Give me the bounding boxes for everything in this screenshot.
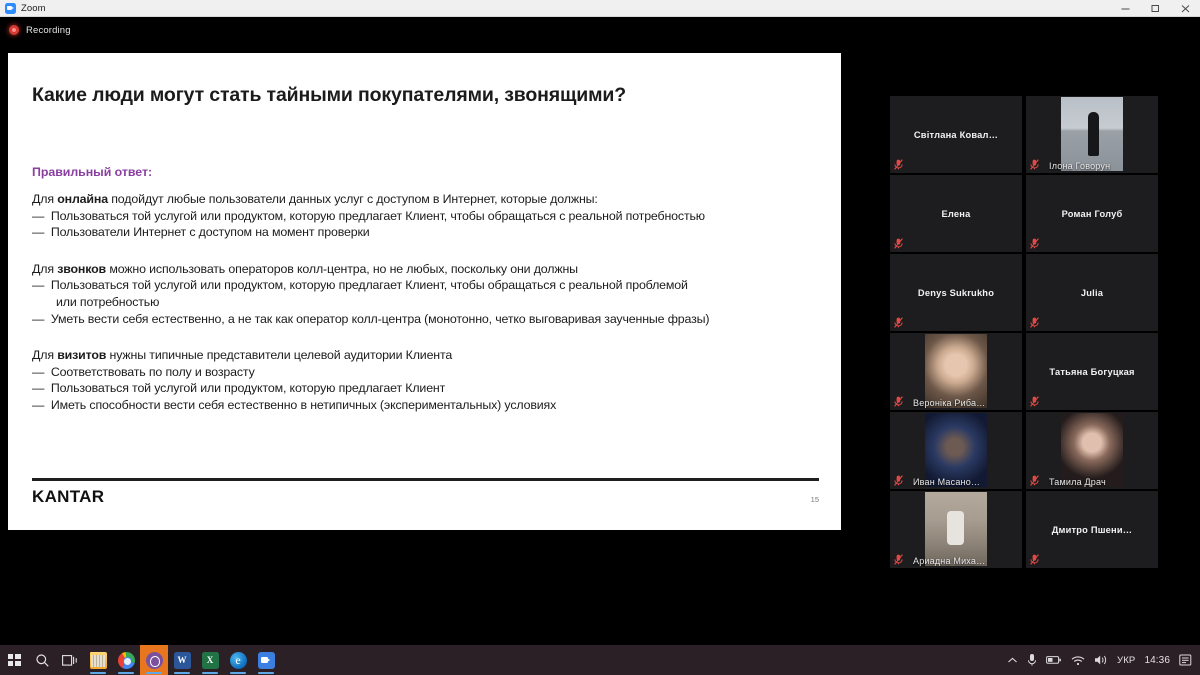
windows-start-icon[interactable] <box>0 645 28 675</box>
participant-tile[interactable]: Denys Sukrukho <box>890 254 1022 331</box>
shared-slide[interactable]: Какие люди могут стать тайными покупател… <box>8 53 841 530</box>
bullet-item: — Пользоваться той услугой или продуктом… <box>32 277 819 294</box>
answer-label: Правильный ответ: <box>32 165 819 179</box>
recording-dot-icon <box>9 25 19 35</box>
participant-name: Дмитро Пшени… <box>1026 525 1158 535</box>
microphone-muted-icon <box>1030 317 1039 328</box>
edge-icon[interactable] <box>224 645 252 675</box>
viber-icon[interactable] <box>140 645 168 675</box>
bullet-item: — Соответствовать по полу и возрасту <box>32 364 819 381</box>
bullet-continuation: или потребностью <box>32 294 819 311</box>
participant-name: Татьяна Богуцкая <box>1026 367 1158 377</box>
block-lead-line: Для звонков можно использовать операторо… <box>32 261 819 278</box>
participant-tile[interactable]: Елена <box>890 175 1022 252</box>
lead-suffix: можно использовать операторов колл-центр… <box>106 262 578 276</box>
microphone-muted-icon <box>1030 238 1039 249</box>
lead-keyword: онлайна <box>57 192 108 206</box>
participant-tile[interactable]: Ариадна Миха… <box>890 491 1022 568</box>
microphone-muted-icon <box>894 475 903 486</box>
maximize-button[interactable] <box>1140 0 1170 17</box>
bullet-item: — Иметь способности вести себя естествен… <box>32 397 819 414</box>
wifi-icon[interactable] <box>1071 655 1085 666</box>
windows-taskbar: УКР 14:36 <box>0 645 1200 675</box>
participant-name: Ілона Говорун <box>1043 161 1154 171</box>
lead-suffix: нужны типичные представители целевой ауд… <box>106 348 452 362</box>
chevron-up-icon[interactable] <box>1007 656 1018 665</box>
participant-name: Роман Голуб <box>1026 209 1158 219</box>
participant-name: Елена <box>890 209 1022 219</box>
participant-name: Julia <box>1026 288 1158 298</box>
excel-icon[interactable] <box>196 645 224 675</box>
task-view-icon[interactable] <box>56 645 84 675</box>
microphone-muted-icon <box>894 238 903 249</box>
lead-keyword: звонков <box>57 262 106 276</box>
microphone-muted-icon <box>894 317 903 328</box>
participant-video-thumbnail <box>925 334 987 408</box>
window-controls <box>1110 0 1200 17</box>
bullet-item: — Пользоваться той услугой или продуктом… <box>32 380 819 397</box>
chrome-icon[interactable] <box>112 645 140 675</box>
participant-name: Вероніка Риба… <box>907 398 1018 408</box>
kantar-logo: KANTAR <box>32 487 104 507</box>
slide-page-number: 15 <box>811 495 819 504</box>
notifications-icon[interactable] <box>1179 654 1192 666</box>
participant-video-thumbnail <box>1061 97 1123 171</box>
microphone-icon[interactable] <box>1027 653 1037 667</box>
recording-bar: Recording <box>0 17 1200 43</box>
slide-block-visits: Для визитов нужны типичные представители… <box>32 347 819 413</box>
minimize-button[interactable] <box>1110 0 1140 17</box>
microphone-muted-icon <box>894 159 903 170</box>
speaker-icon[interactable] <box>1094 654 1108 666</box>
microphone-muted-icon <box>1030 396 1039 407</box>
microphone-muted-icon <box>1030 159 1039 170</box>
bullet-item: — Пользоваться той услугой или продуктом… <box>32 208 819 225</box>
window-title: Zoom <box>21 3 46 14</box>
block-lead-line: Для визитов нужны типичные представители… <box>32 347 819 364</box>
participant-tile[interactable]: Татьяна Богуцкая <box>1026 333 1158 410</box>
window-title-bar: Zoom <box>0 0 1200 17</box>
bullet-item: — Пользователи Интернет с доступом на мо… <box>32 224 819 241</box>
system-tray: УКР 14:36 <box>1007 653 1200 667</box>
participant-grid: Світлана Ковал…Ілона ГоворунЕленаРоман Г… <box>890 96 1160 568</box>
title-bar-left: Zoom <box>0 3 46 14</box>
microphone-muted-icon <box>1030 475 1039 486</box>
participant-tile[interactable]: Ілона Говорун <box>1026 96 1158 173</box>
zoom-icon[interactable] <box>252 645 280 675</box>
search-icon[interactable] <box>28 645 56 675</box>
close-button[interactable] <box>1170 0 1200 17</box>
lead-prefix: Для <box>32 262 57 276</box>
participant-tile[interactable]: Вероніка Риба… <box>890 333 1022 410</box>
participant-tile[interactable]: Світлана Ковал… <box>890 96 1022 173</box>
file-explorer-icon[interactable] <box>84 645 112 675</box>
language-indicator[interactable]: УКР <box>1117 655 1136 666</box>
recording-label: Recording <box>26 25 71 36</box>
lead-suffix: подойдут любые пользователи данных услуг… <box>108 192 598 206</box>
participant-name: Denys Sukrukho <box>890 288 1022 298</box>
zoom-logo-icon <box>5 3 16 14</box>
participant-video-thumbnail <box>925 492 987 566</box>
participant-name: Тамила Драч <box>1043 477 1154 487</box>
bullet-item: — Уметь вести себя естественно, а не так… <box>32 311 819 328</box>
participant-tile[interactable]: Дмитро Пшени… <box>1026 491 1158 568</box>
slide-divider <box>32 478 819 481</box>
slide-title: Какие люди могут стать тайными покупател… <box>32 84 819 107</box>
clock[interactable]: 14:36 <box>1144 655 1170 666</box>
participant-name: Ариадна Миха… <box>907 556 1018 566</box>
microphone-muted-icon <box>1030 554 1039 565</box>
participant-tile[interactable]: Julia <box>1026 254 1158 331</box>
participant-tile[interactable]: Тамила Драч <box>1026 412 1158 489</box>
participant-video-thumbnail <box>925 413 987 487</box>
lead-prefix: Для <box>32 192 57 206</box>
microphone-muted-icon <box>894 396 903 407</box>
block-lead-line: Для онлайна подойдут любые пользователи … <box>32 191 819 208</box>
participant-video-thumbnail <box>1061 413 1123 487</box>
slide-footer: KANTAR 15 <box>32 487 819 507</box>
participant-tile[interactable]: Иван Масано… <box>890 412 1022 489</box>
lead-prefix: Для <box>32 348 57 362</box>
word-icon[interactable] <box>168 645 196 675</box>
microphone-muted-icon <box>894 554 903 565</box>
participant-name: Світлана Ковал… <box>890 130 1022 140</box>
participant-tile[interactable]: Роман Голуб <box>1026 175 1158 252</box>
battery-icon[interactable] <box>1046 655 1062 665</box>
slide-block-online: Для онлайна подойдут любые пользователи … <box>32 191 819 241</box>
participant-name: Иван Масано… <box>907 477 1018 487</box>
lead-keyword: визитов <box>57 348 106 362</box>
slide-block-calls: Для звонков можно использовать операторо… <box>32 261 819 327</box>
